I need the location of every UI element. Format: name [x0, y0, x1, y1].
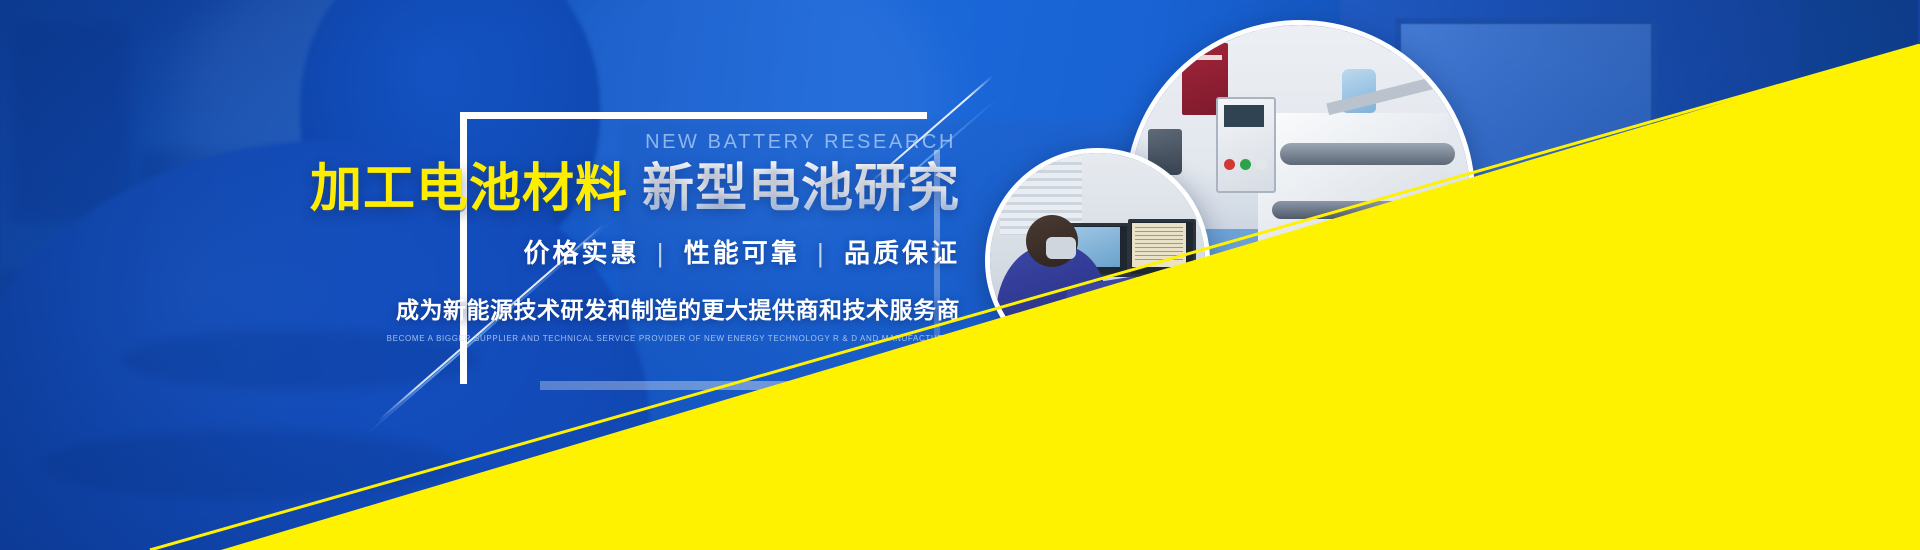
photo-circle-engineer-workstation — [985, 148, 1210, 373]
photo-collage — [0, 0, 1920, 550]
photo-circle-electrode-pressing — [1238, 238, 1490, 490]
hero-banner: NEW BATTERY RESEARCH 加工电池材料新型电池研究 价格实惠 |… — [0, 0, 1920, 550]
